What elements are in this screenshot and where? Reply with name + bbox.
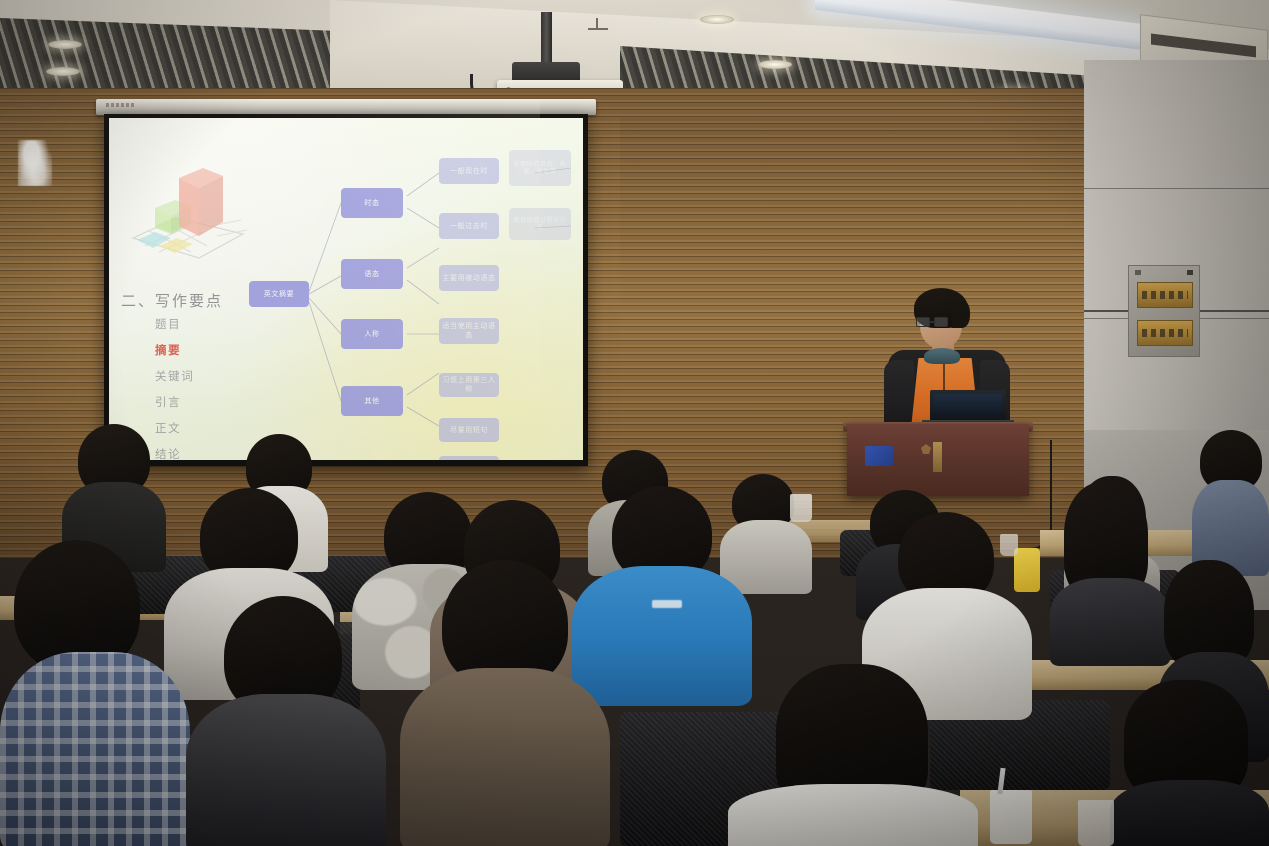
slide-surface: 二、写作要点 题目 摘要 关键词 引言 正文 结论 参考文献: [109, 118, 583, 460]
slide-flowchart: 英文摘要 时态 语态 人称 其他 一般现在时 一般过去时 主要用被动语态 适当使…: [109, 118, 583, 460]
panel-conduit: [1084, 310, 1130, 312]
flow-node-branch-2: 语态: [341, 259, 403, 289]
wall-paint-scuff: [18, 140, 52, 186]
av-control-panel[interactable]: [1128, 265, 1200, 357]
flow-node-branch-1: 时态: [341, 188, 403, 218]
attendee-dark-front-left: [186, 596, 386, 846]
panel-indicator-right: [1187, 270, 1193, 275]
drink-cup-secondary[interactable]: [1078, 800, 1114, 846]
laptop-screen: [930, 390, 1006, 424]
downlight-icon: [700, 15, 734, 24]
lectern: [847, 424, 1029, 496]
projector-mount-pole: [541, 12, 552, 68]
yellow-bottle[interactable]: [1014, 548, 1040, 592]
attendee-front-right-dark: [1110, 680, 1269, 846]
flow-leaf-4a: 尽量用短句: [439, 418, 499, 442]
drink-cup[interactable]: [990, 790, 1032, 844]
attendee-long-hair-right: [1050, 482, 1170, 662]
panel-window-upper: [1137, 282, 1193, 308]
flow-node-root: 英文摘要: [249, 281, 309, 307]
panel-conduit: [1198, 310, 1269, 312]
ceiling-wire: [588, 28, 608, 30]
speaker-collar: [924, 348, 960, 364]
flow-leaf-3a: 习惯上用第三人称: [439, 373, 499, 397]
flow-leaf-1a: 一般现在时: [439, 158, 499, 184]
flow-leaf-4b: 专业词汇: [439, 456, 499, 460]
drink-cup-mid[interactable]: [1000, 534, 1018, 556]
projection-screen: 二、写作要点 题目 摘要 关键词 引言 正文 结论 参考文献: [104, 114, 588, 466]
flow-leaf-2b: 适当使用主动语态: [439, 318, 499, 344]
flow-leaf-2a: 主要用被动语态: [439, 265, 499, 291]
mizuno-logo: [652, 600, 682, 608]
lectern-emblem-bar: [933, 442, 942, 472]
lectern-emblem-shield: [921, 444, 931, 454]
flow-detail-1a: 说明研究目的、内容、结论等: [509, 150, 571, 186]
screen-roller-housing: [96, 99, 596, 115]
drink-cup-back-row[interactable]: [790, 494, 812, 522]
flow-node-branch-4: 其他: [341, 386, 403, 416]
downlight-icon: [48, 40, 82, 49]
flow-leaf-1b: 一般过去时: [439, 213, 499, 239]
wall-seam: [1084, 188, 1269, 189]
lecture-hall-photo: 二、写作要点 题目 摘要 关键词 引言 正文 结论 参考文献: [0, 0, 1269, 846]
attendee-denim-right: [1192, 430, 1269, 570]
downlight-icon: [46, 67, 80, 76]
attendee-plaid-shirt: [0, 540, 190, 846]
panel-window-lower: [1137, 320, 1193, 346]
attendee-brown-jacket: [400, 560, 610, 846]
flow-node-branch-3: 人称: [341, 319, 403, 349]
downlight-icon: [758, 60, 792, 69]
housing-brand-mark: [106, 103, 134, 107]
lectern-logo: [865, 446, 893, 466]
panel-indicator-left: [1135, 270, 1141, 275]
attendee-long-hair-white-top: [728, 664, 978, 846]
eyeglasses-icon: [916, 317, 950, 327]
flow-detail-1b: 叙述研究过程与方法: [509, 208, 571, 240]
